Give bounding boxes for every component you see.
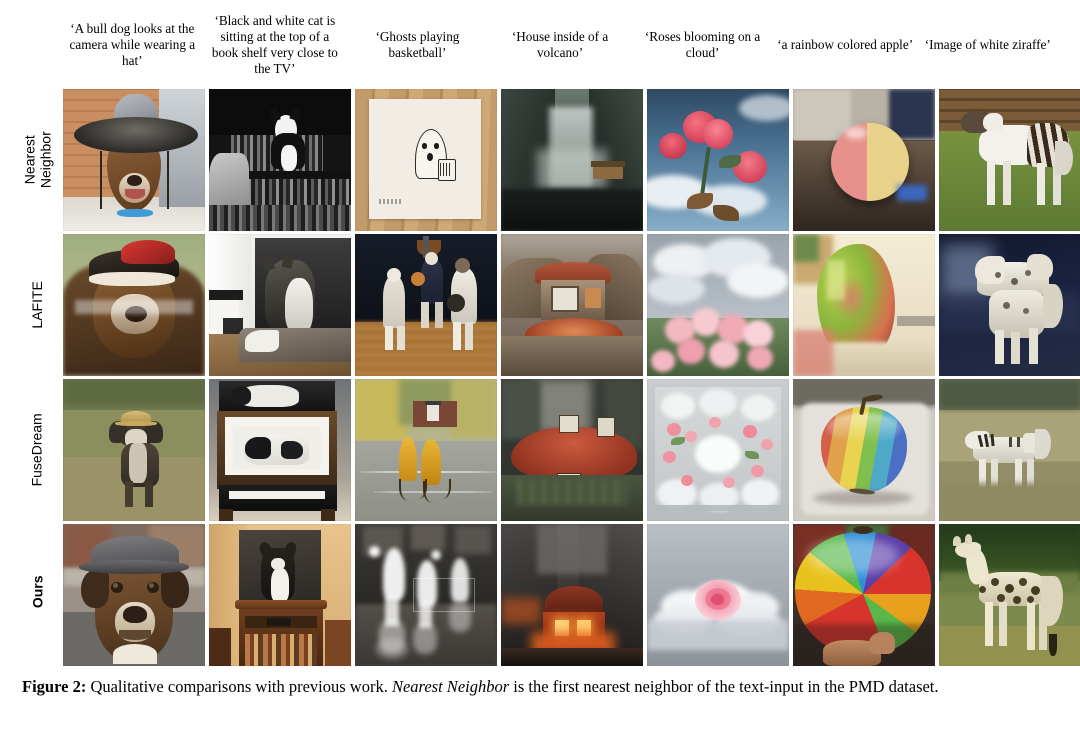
grid-image-ours-bulldog-cap[interactable] xyxy=(63,524,205,666)
row-label-fusedream: FuseDream xyxy=(18,379,58,521)
column-caption-house-volcano: ‘House inside of a volcano’ xyxy=(491,4,630,86)
figure-container: ‘A bull dog looks at the camera while we… xyxy=(0,0,1080,746)
grid-image-nn-striped-horse[interactable] xyxy=(939,89,1080,231)
figure-caption-emphasis: Nearest Neighbor xyxy=(392,677,509,696)
figure-caption-tail: is the first nearest neighbor of the tex… xyxy=(509,677,938,696)
grid-image-nn-cat-bookshelf[interactable] xyxy=(209,89,351,231)
grid-image-fusedream-white-foal[interactable] xyxy=(939,379,1080,521)
grid-image-fusedream-dog-strawhat[interactable] xyxy=(63,379,205,521)
figure-caption-lead: Qualitative comparisons with previous wo… xyxy=(86,677,392,696)
grid-image-fusedream-rainbow-apple[interactable] xyxy=(793,379,935,521)
figure-caption-label: Figure 2: xyxy=(22,677,86,696)
grid-image-nn-bulldog-hat[interactable] xyxy=(63,89,205,231)
grid-image-lafite-multicolor-mango[interactable] xyxy=(793,234,935,376)
grid-image-ours-cat-shelf[interactable] xyxy=(209,524,351,666)
row-label-lafite-text: LAFITE xyxy=(30,281,46,328)
column-caption-ghosts-basketball: ‘Ghosts playing basketball’ xyxy=(348,4,487,86)
grid-image-ours-glowing-ghosts[interactable] xyxy=(355,524,497,666)
grid-image-fusedream-yellow-ghosts[interactable] xyxy=(355,379,497,521)
grid-image-fusedream-rose-cloud-wall[interactable] xyxy=(647,379,789,521)
row-label-ours: Ours xyxy=(18,521,58,663)
grid-image-ours-spotted-giraffe[interactable] xyxy=(939,524,1080,666)
grid-image-nn-ghost-drawing[interactable] xyxy=(355,89,497,231)
grid-image-nn-roses-sky[interactable] xyxy=(647,89,789,231)
grid-image-ours-rose-on-cloud[interactable] xyxy=(647,524,789,666)
row-label-lafite: LAFITE xyxy=(18,234,58,376)
comparison-image-grid xyxy=(63,89,1057,664)
row-label-fusedream-text: FuseDream xyxy=(30,413,46,486)
grid-image-nn-two-tone-apple[interactable] xyxy=(793,89,935,231)
column-caption-rainbow-apple: ‘a rainbow colored apple’ xyxy=(776,4,915,86)
grid-image-lafite-roses-clouds[interactable] xyxy=(647,234,789,376)
row-label-nearest-neighbor-text: NearestNeighbor xyxy=(22,132,53,189)
row-label-ours-text: Ours xyxy=(30,576,46,609)
column-caption-cat-bookshelf: ‘Black and white cat is sitting at the t… xyxy=(206,4,345,86)
column-caption-bulldog-hat: ‘A bull dog looks at the camera while we… xyxy=(63,4,202,86)
column-caption-white-ziraffe: ‘Image of white ziraffe’ xyxy=(918,4,1057,86)
grid-image-ours-volcano-house[interactable] xyxy=(501,524,643,666)
grid-image-nn-gorge-waterfall[interactable] xyxy=(501,89,643,231)
grid-image-ours-hand-rainbow-apple[interactable] xyxy=(793,524,935,666)
grid-image-lafite-dog-redhat[interactable] xyxy=(63,234,205,376)
grid-image-fusedream-crt-tv[interactable] xyxy=(209,379,351,521)
figure-caption: Figure 2: Qualitative comparisons with p… xyxy=(22,676,1058,698)
grid-image-fusedream-red-mound[interactable] xyxy=(501,379,643,521)
column-caption-roses-cloud: ‘Roses blooming on a cloud’ xyxy=(633,4,772,86)
row-label-nearest-neighbor: NearestNeighbor xyxy=(18,89,58,231)
grid-image-lafite-basketball-players[interactable] xyxy=(355,234,497,376)
grid-image-lafite-crater-house[interactable] xyxy=(501,234,643,376)
grid-image-lafite-white-giraffe[interactable] xyxy=(939,234,1080,376)
grid-image-lafite-cat-livingroom[interactable] xyxy=(209,234,351,376)
column-header-row: ‘A bull dog looks at the camera while we… xyxy=(63,4,1057,86)
